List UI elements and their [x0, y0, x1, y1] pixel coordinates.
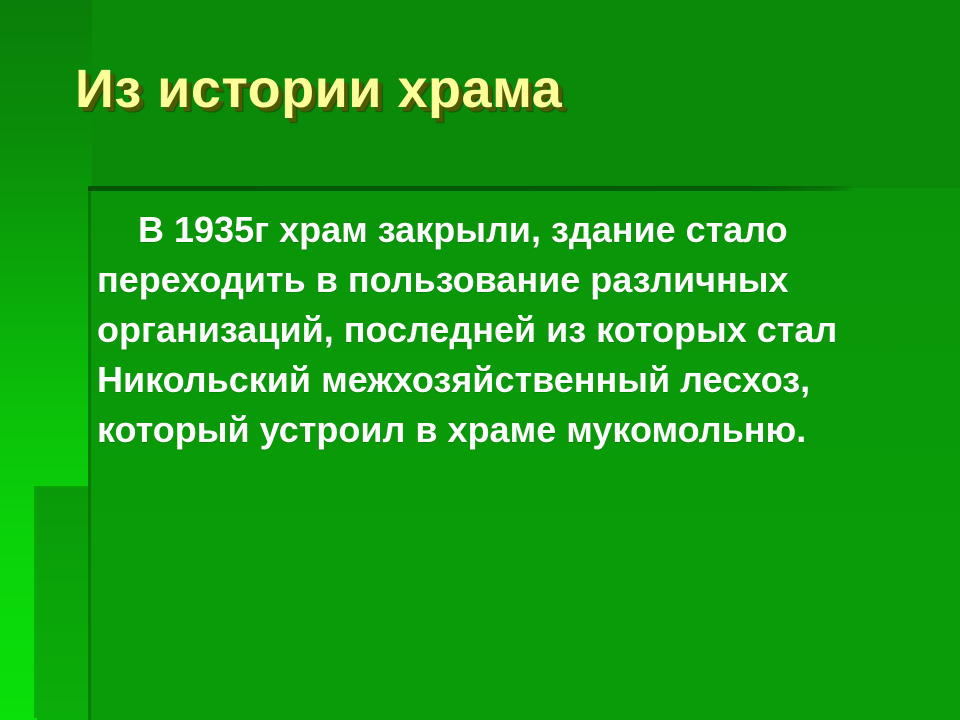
slide-body-text: В 1935г храм закрыли, здание стало перех… — [97, 205, 897, 455]
slide-title: Из истории храма — [75, 61, 562, 118]
presentation-slide: Из истории храма В 1935г храм закрыли, з… — [0, 0, 960, 720]
content-panel-top-divider — [88, 186, 856, 191]
background-lower-left-panel — [37, 488, 93, 720]
